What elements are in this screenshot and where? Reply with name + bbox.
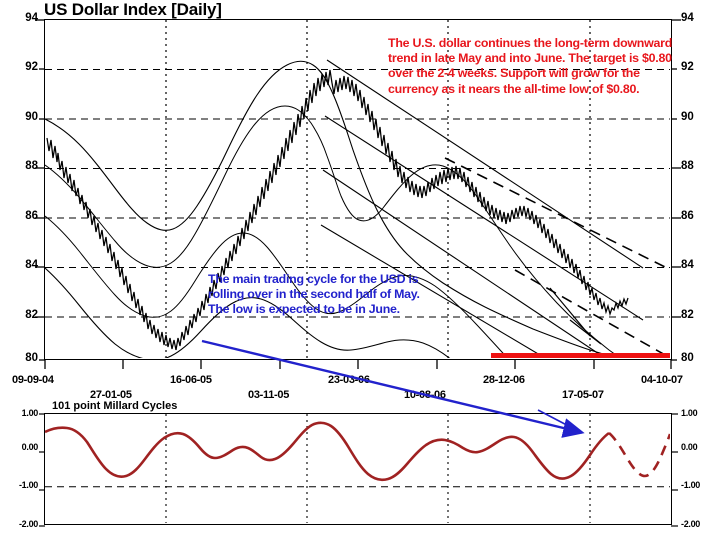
x-tick-16-06-05: 16-06-05 bbox=[170, 374, 212, 386]
x-tick-10-08-06: 10-08-06 bbox=[404, 389, 446, 401]
x-tick-23-03-06: 23-03-06 bbox=[328, 374, 370, 386]
y-tick-right-86: 86 bbox=[681, 210, 715, 222]
x-tick-03-11-05: 03-11-05 bbox=[248, 389, 289, 401]
x-tick-17-05-07: 17-05-07 bbox=[562, 389, 604, 401]
blue-commentary-note: The main trading cycle for the USD is ro… bbox=[208, 272, 423, 318]
y-tick-right-94: 94 bbox=[681, 12, 715, 24]
sub-y-tick-right--2: -2.00 bbox=[681, 519, 717, 529]
millard-cycle-line bbox=[45, 423, 609, 480]
sub-left-axis-ticks bbox=[36, 408, 45, 533]
y-tick-right-88: 88 bbox=[681, 160, 715, 172]
y-tick-right-84: 84 bbox=[681, 259, 715, 271]
sub-y-tick-left-1: 1.00 bbox=[4, 408, 38, 418]
left-axis-ticks bbox=[33, 12, 45, 372]
sub-y-tick-right--1: -1.00 bbox=[681, 480, 717, 490]
x-axis-ticks bbox=[44, 360, 673, 372]
x-tick-04-10-07: 04-10-07 bbox=[641, 374, 683, 386]
x-tick-09-09-04: 09-09-04 bbox=[12, 374, 54, 386]
sub-y-tick-right-0: 0.00 bbox=[681, 442, 717, 452]
subchart-title: 101 point Millard Cycles bbox=[52, 400, 177, 412]
sub-vertical-gridlines bbox=[166, 414, 590, 523]
millard-cycle-forecast bbox=[609, 433, 670, 476]
millard-cycles-chart bbox=[44, 413, 672, 525]
y-tick-right-80: 80 bbox=[681, 352, 715, 364]
x-tick-28-12-06: 28-12-06 bbox=[483, 374, 525, 386]
y-tick-right-90: 90 bbox=[681, 111, 715, 123]
sub-y-tick-left-0: 0.00 bbox=[4, 442, 38, 452]
y-tick-right-82: 82 bbox=[681, 309, 715, 321]
sub-right-axis-ticks bbox=[671, 408, 681, 533]
subchart-svg bbox=[45, 414, 670, 523]
red-commentary-note: The U.S. dollar continues the long-term … bbox=[388, 36, 688, 97]
support-line-80 bbox=[491, 353, 670, 358]
sub-y-tick-right-1: 1.00 bbox=[681, 408, 717, 418]
page-title: US Dollar Index [Daily] bbox=[44, 0, 222, 20]
sub-y-tick-left--1: -1.00 bbox=[4, 480, 38, 490]
sub-y-tick-left--2: -2.00 bbox=[4, 519, 38, 529]
mid-upper-envelope-curve bbox=[45, 106, 665, 358]
chart-screenshot: US Dollar Index [Daily] bbox=[0, 0, 720, 540]
